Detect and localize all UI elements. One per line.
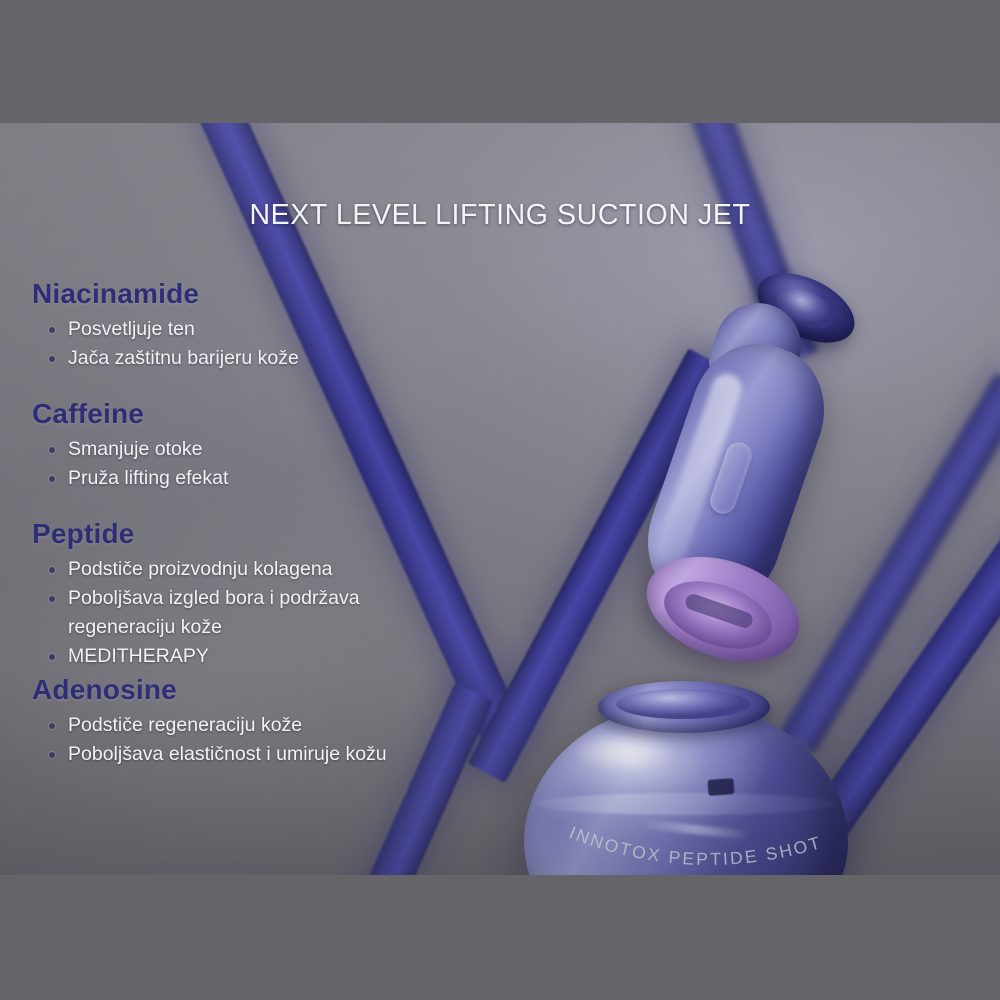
- ingredient-name: Caffeine: [32, 398, 552, 430]
- ingredient-name: Niacinamide: [32, 278, 552, 310]
- suction-jet-device: [622, 273, 892, 673]
- benefit-item: Podstiče regeneraciju kože: [68, 712, 552, 739]
- top-letterbox-band: [0, 0, 1000, 123]
- jar-seam: [536, 793, 836, 815]
- benefit-item: Posvetljuje ten: [68, 316, 552, 343]
- benefit-item: Jača zaštitnu barijeru kože: [68, 345, 552, 372]
- page-title: NEXT LEVEL LIFTING SUCTION JET: [0, 199, 1000, 232]
- benefit-item: Poboljšava elastičnost i umiruje kožu: [68, 741, 552, 768]
- ingredient-section: PeptidePodstiče proizvodnju kolagenaPobo…: [32, 518, 552, 670]
- jar-highlight: [564, 727, 714, 787]
- jar-dark-marking: [707, 778, 734, 796]
- ingredient-list: NiacinamidePosvetljuje tenJača zaštitnu …: [32, 278, 552, 770]
- benefit-list: Smanjuje otokePruža lifting efekat: [32, 436, 552, 492]
- benefit-item: Pruža lifting efekat: [68, 465, 552, 492]
- ingredient-section: AdenosinePodstiče regeneraciju kožePobol…: [32, 674, 552, 768]
- bottom-letterbox-band: [0, 875, 1000, 1000]
- benefit-item: MEDITHERAPY: [68, 643, 552, 670]
- benefit-item: Poboljšava izgled bora i podržava: [68, 585, 552, 612]
- jar-lid-inner: [616, 689, 750, 719]
- promo-slide: INNOTOX PEPTIDE SHOT CREAM NEXT LEVEL LI…: [0, 0, 1000, 1000]
- benefit-list: Podstiče regeneraciju kožePoboljšava ela…: [32, 712, 552, 768]
- ingredient-name: Peptide: [32, 518, 552, 550]
- ingredient-section: CaffeineSmanjuje otokePruža lifting efek…: [32, 398, 552, 492]
- ingredient-section: NiacinamidePosvetljuje tenJača zaštitnu …: [32, 278, 552, 372]
- benefit-list: Posvetljuje tenJača zaštitnu barijeru ko…: [32, 316, 552, 372]
- benefit-item: Podstiče proizvodnju kolagena: [68, 556, 552, 583]
- benefit-list: Podstiče proizvodnju kolagenaPoboljšava …: [32, 556, 552, 670]
- ingredient-name: Adenosine: [32, 674, 552, 706]
- benefit-item: regeneraciju kože: [68, 614, 552, 641]
- peptide-shot-cream-jar: INNOTOX PEPTIDE SHOT CREAM: [512, 675, 860, 875]
- benefit-item: Smanjuje otoke: [68, 436, 552, 463]
